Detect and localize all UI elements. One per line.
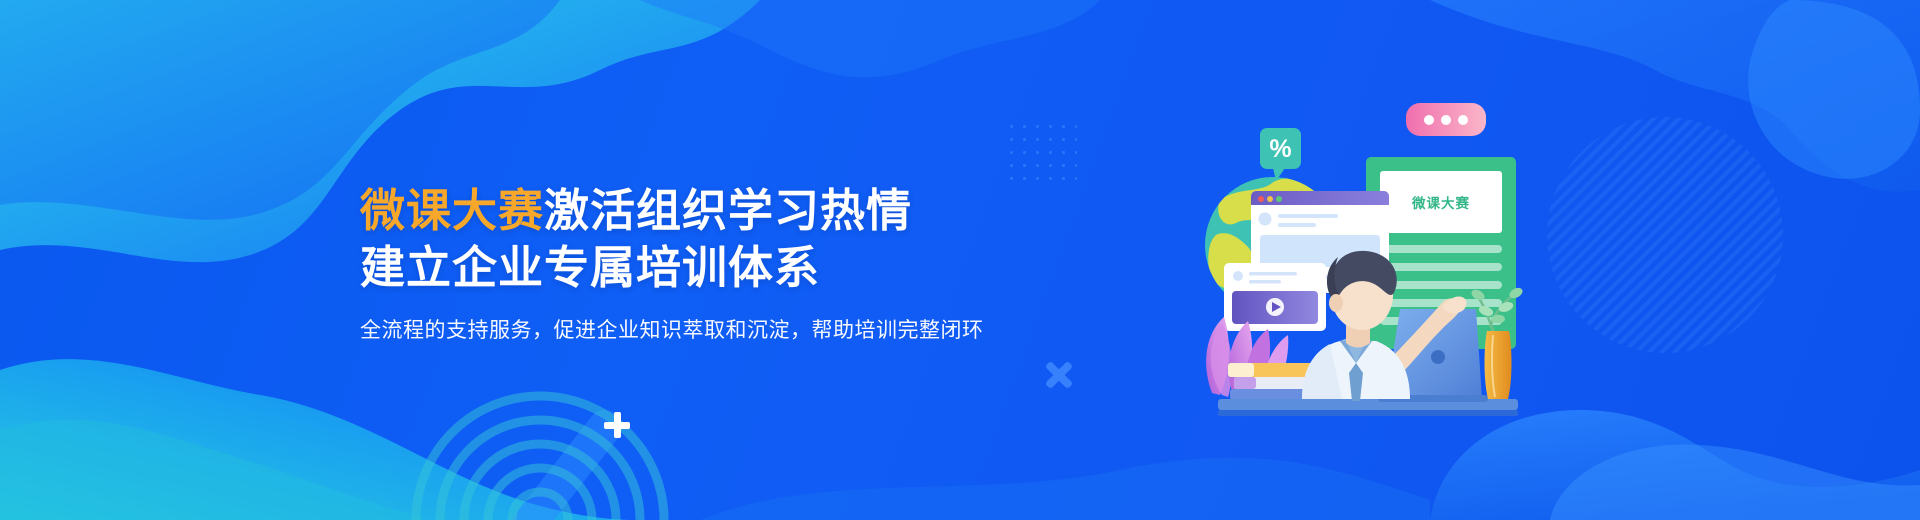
illustration-scene: % 微课大赛	[1190, 95, 1550, 425]
hero-copy: 微课大赛激活组织学习热情 建立企业专属培训体系 全流程的支持服务，促进企业知识萃…	[360, 182, 1120, 346]
dot-grid-decoration	[1005, 120, 1077, 182]
chat-bubble	[1406, 103, 1486, 136]
headline-line-1-rest: 激活组织学习热情	[544, 185, 912, 236]
wave-bottom-left-front	[0, 420, 430, 520]
hero-subtitle: 全流程的支持服务，促进企业知识萃取和沉淀，帮助培训完整闭环	[360, 316, 1120, 346]
wave-bottom-left	[0, 359, 700, 520]
wave-top-mid	[640, 0, 1100, 77]
wave-bottom-right	[1430, 410, 1920, 520]
capsule-diagonal	[494, 403, 629, 520]
percent-bubble: %	[1260, 128, 1301, 181]
video-card	[1224, 263, 1326, 331]
desk-shadow	[1218, 410, 1518, 416]
headline-line-1: 微课大赛激活组织学习热情	[360, 182, 1120, 239]
concentric-rings	[416, 396, 664, 520]
cross-mark-icon	[1044, 360, 1074, 390]
board-label: 微课大赛	[1411, 195, 1470, 211]
hero-illustration: % 微课大赛	[1190, 95, 1550, 425]
percent-bubble-label: %	[1269, 135, 1291, 163]
wave-bottom-center	[700, 458, 1430, 520]
hero-banner: 微课大赛激活组织学习热情 建立企业专属培训体系 全流程的支持服务，促进企业知识萃…	[0, 0, 1920, 520]
headline-line-2: 建立企业专属培训体系	[360, 239, 1120, 296]
headline-accent-text: 微课大赛	[360, 185, 544, 236]
striped-circle	[1547, 117, 1783, 353]
plus-mark-icon	[604, 412, 630, 438]
blob-top-right-circle	[1748, 0, 1920, 179]
wave-bottom-right-2	[1550, 445, 1920, 520]
